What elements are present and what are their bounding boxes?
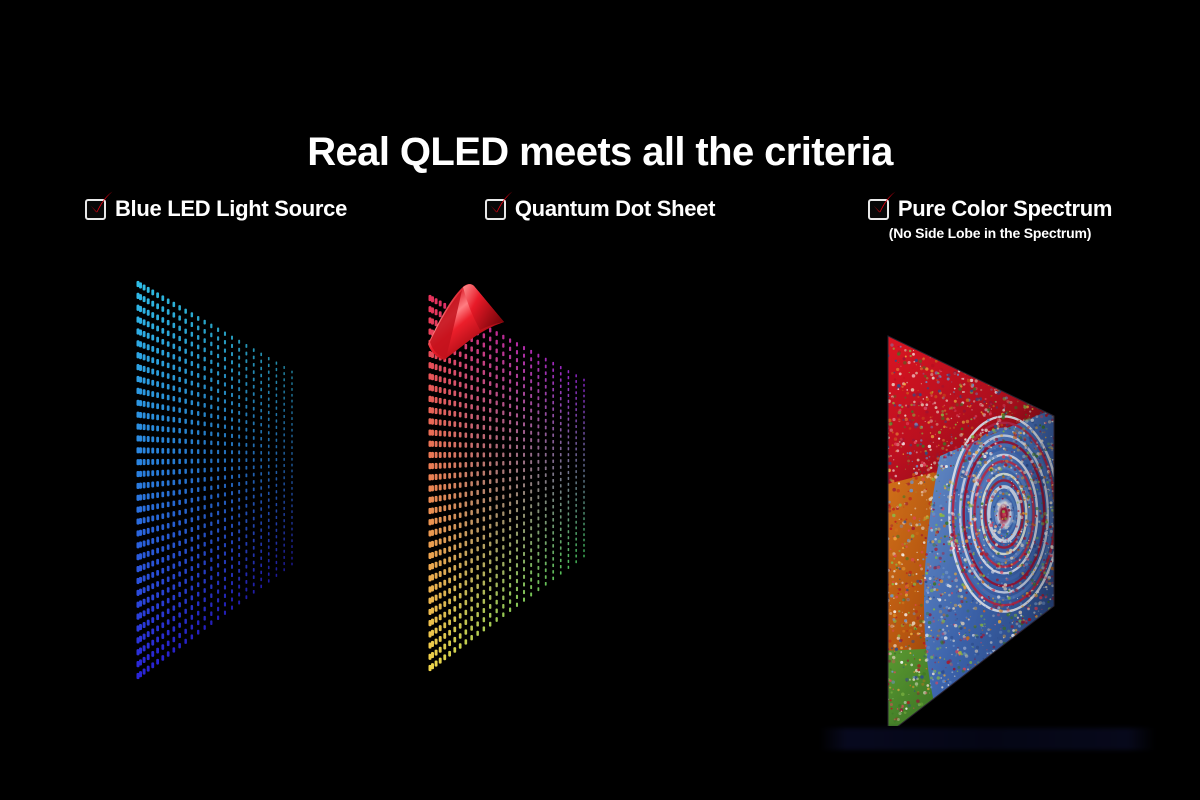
quantum-dot-grid xyxy=(400,256,800,726)
pure-color-spectrum-panel xyxy=(790,256,1190,726)
column-header: Quantum Dot Sheet xyxy=(400,196,800,222)
slide-canvas: Real QLED meets all the criteria Blue LE… xyxy=(0,0,1200,800)
column-pure-color-spectrum: Pure Color Spectrum (No Side Lobe in the… xyxy=(790,196,1190,756)
mandala-textile-photo xyxy=(790,256,1190,726)
check-mark-icon xyxy=(486,190,516,220)
column-blue-led-light-source: Blue LED Light Source xyxy=(16,196,416,756)
background-artifact-band xyxy=(820,728,1155,750)
column-quantum-dot-sheet: Quantum Dot Sheet xyxy=(400,196,800,756)
page-title: Real QLED meets all the criteria xyxy=(0,128,1200,176)
column-sublabel: (No Side Lobe in the Spectrum) xyxy=(889,225,1091,241)
column-header: Blue LED Light Source xyxy=(16,196,416,222)
column-header: Pure Color Spectrum (No Side Lobe in the… xyxy=(790,196,1190,241)
blue-led-dot-grid xyxy=(16,256,416,726)
check-mark-icon xyxy=(86,190,116,220)
column-label: Blue LED Light Source xyxy=(115,196,347,222)
quantum-dot-panel xyxy=(400,256,800,726)
blue-led-panel xyxy=(16,256,416,726)
column-label: Pure Color Spectrum xyxy=(898,196,1112,222)
checkbox-pure-color-spectrum[interactable] xyxy=(868,199,889,220)
checkbox-blue-led-light-source[interactable] xyxy=(85,199,106,220)
check-mark-icon xyxy=(869,190,899,220)
column-label: Quantum Dot Sheet xyxy=(515,196,715,222)
checkbox-quantum-dot-sheet[interactable] xyxy=(485,199,506,220)
